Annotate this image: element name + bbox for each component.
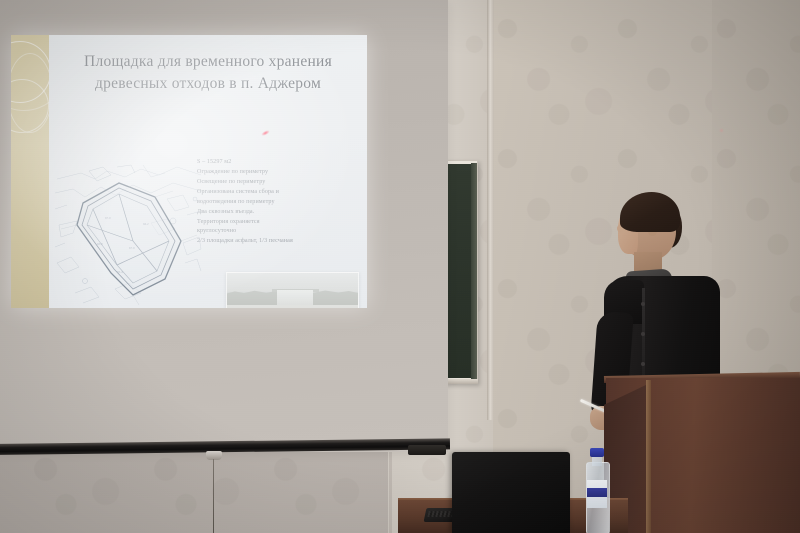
shirt-button — [641, 362, 645, 366]
photo-ground — [227, 305, 358, 308]
slide-body-line: Два сквозных въезда. — [197, 208, 357, 218]
slide-body-line: водоотведения по периметру — [197, 198, 357, 208]
slide-photo — [226, 272, 359, 308]
svg-text:65.4: 65.4 — [117, 270, 123, 274]
photo-building — [277, 290, 314, 305]
svg-text:65.8: 65.8 — [97, 242, 103, 246]
slide-body-line: S – 15297 м2 — [197, 158, 357, 168]
svg-text:67.0: 67.0 — [105, 216, 111, 220]
site-plan-map: 67.0 67.0 65.8 66.2 65.4 — [55, 163, 203, 305]
laptop-lid[interactable]: lenovo — [452, 452, 570, 533]
bottle-label-band — [587, 488, 607, 497]
slide-title: Площадка для временного хранения древесн… — [55, 51, 361, 95]
slide-body-line: круглосуточно — [197, 227, 357, 237]
chalkboard-edge — [471, 163, 477, 379]
water-bottle[interactable] — [586, 448, 608, 533]
projection-screen-handle[interactable] — [206, 451, 222, 460]
slide-body-line: Ограждение по периметру — [197, 168, 357, 178]
projected-slide: Площадка для временного хранения древесн… — [11, 35, 367, 308]
shirt-button — [641, 332, 645, 336]
slide-body-line: Освещение по периметру — [197, 178, 357, 188]
podium-corner-edge — [646, 380, 651, 533]
laser-pointer-reflection — [719, 128, 724, 133]
wall-column-edge — [487, 0, 494, 420]
lecture-room-photo: Площадка для временного хранения древесн… — [0, 0, 800, 533]
slide-body-line: 2/3 площадки асфальт, 1/3 песчаная — [197, 237, 357, 247]
projection-screen-cord[interactable] — [213, 459, 214, 533]
bottle-cap — [590, 448, 604, 457]
slide-body-text: S – 15297 м2 Ограждение по периметру Осв… — [197, 158, 357, 247]
slide-body-line: Организована система сбора и — [197, 188, 357, 198]
shirt-button — [641, 302, 645, 306]
decorative-arc-icon — [11, 53, 49, 133]
chalkboard-surface — [444, 164, 471, 378]
hair — [620, 192, 680, 232]
svg-text:66.2: 66.2 — [143, 222, 149, 226]
svg-text:67.0: 67.0 — [129, 246, 135, 250]
wall-outlet — [408, 445, 446, 455]
slide-body-line: Территория охраняется — [197, 218, 357, 228]
slide-template-sidebar — [11, 35, 49, 308]
